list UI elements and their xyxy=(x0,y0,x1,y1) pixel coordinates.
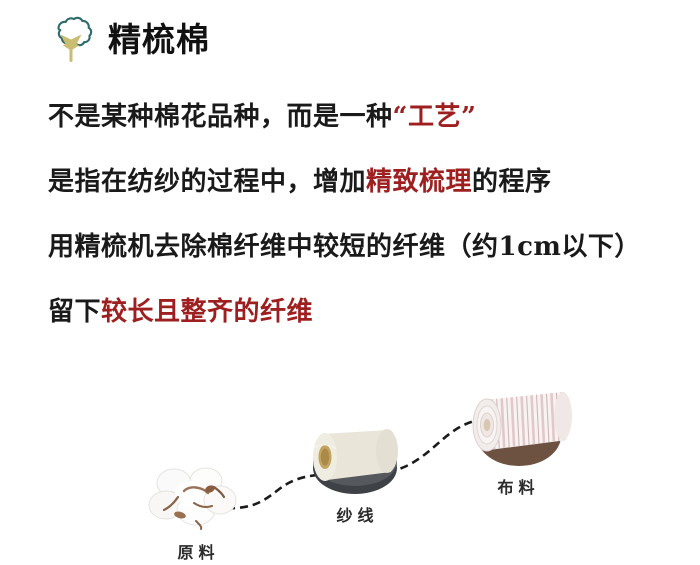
copy-segment-emphasis: 精致梳理 xyxy=(366,167,472,197)
copy-segment: 留下 xyxy=(48,297,101,327)
stage-label-yarn: 纱线 xyxy=(296,502,414,526)
stage-raw-material: 原料 xyxy=(142,463,250,563)
cotton-boll-icon xyxy=(48,14,94,64)
cotton-bolls-image xyxy=(142,463,250,531)
stage-yarn: 纱线 xyxy=(296,418,414,526)
fabric-roll-image xyxy=(448,384,584,472)
copy-line: 用精梳机去除棉纤维中较短的纤维（约1cm以下） xyxy=(48,234,688,260)
copy-segment-emphasis: 较长且整齐的纤维 xyxy=(101,297,313,327)
stage-fabric: 布料 xyxy=(448,384,584,498)
copy-line: 不是某种棉花品种，而是一种“工艺” xyxy=(48,104,688,130)
yarn-spool-image xyxy=(296,418,414,498)
copy-segment: 用精梳机去除棉纤维中较短的纤维（约1cm以下） xyxy=(48,232,641,262)
stage-label-fabric: 布料 xyxy=(448,474,584,498)
stage-label-raw-material: 原料 xyxy=(142,539,250,563)
copy-line: 留下较长且整齐的纤维 xyxy=(48,299,688,325)
copy-segment: 是指在纺纱的过程中，增加 xyxy=(48,167,366,197)
copy-segment: 不是某种棉花品种，而是一种 xyxy=(48,102,393,132)
page-title: 精梳棉 xyxy=(108,23,210,56)
copy-line: 是指在纺纱的过程中，增加精致梳理的程序 xyxy=(48,169,688,195)
copy-segment-emphasis: “工艺” xyxy=(393,102,477,132)
body-copy: 不是某种棉花品种，而是一种“工艺” 是指在纺纱的过程中，增加精致梳理的程序 用精… xyxy=(48,104,688,325)
process-diagram: 原料 纱线 xyxy=(0,378,700,565)
copy-segment: 的程序 xyxy=(472,167,552,197)
page-header: 精梳棉 xyxy=(48,14,210,64)
